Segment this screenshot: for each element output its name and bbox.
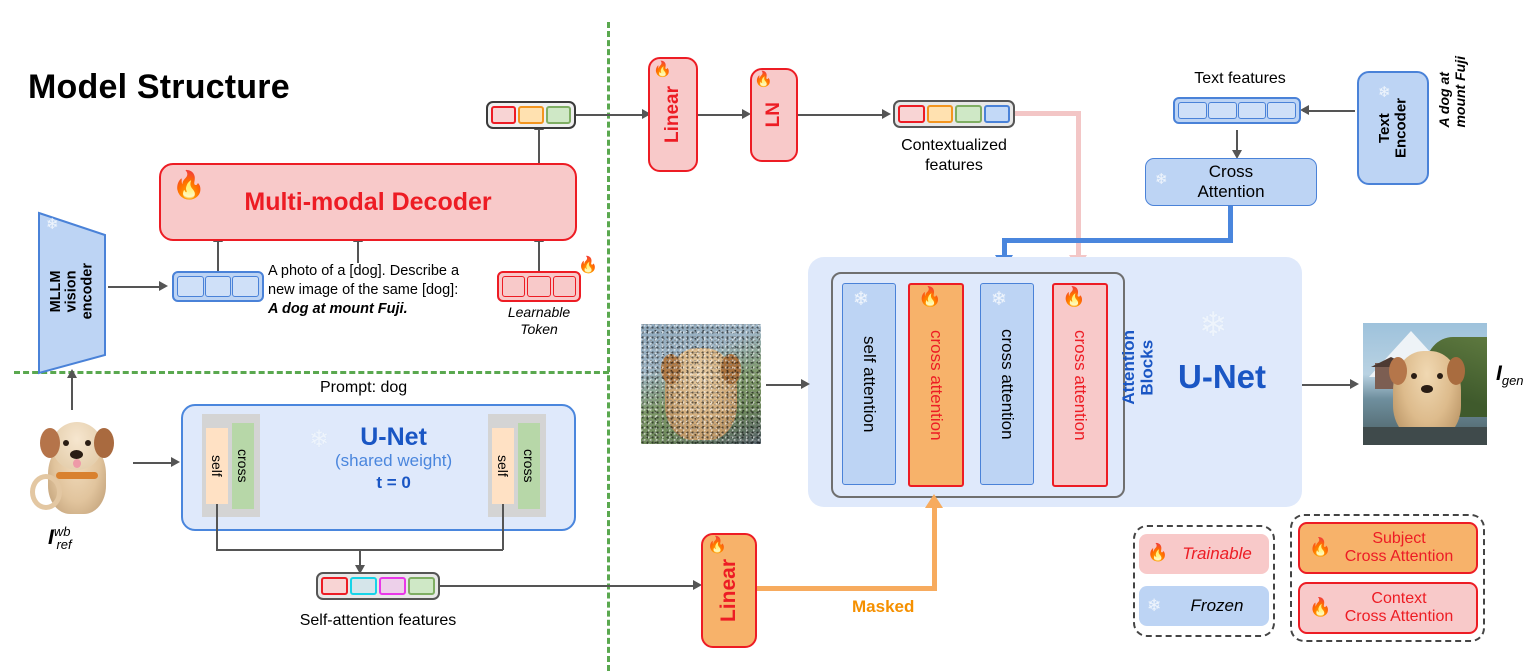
unet-to-output-arrow xyxy=(1350,379,1359,389)
shared-unet-left-self[interactable]: self xyxy=(206,428,228,504)
shared-unet-left-cross[interactable]: cross xyxy=(232,423,254,509)
legend-subject-line2: Cross Attention xyxy=(1345,548,1454,565)
contextualized-cell xyxy=(984,105,1011,123)
encoder-to-tokens-arrow xyxy=(159,281,168,291)
attention-blocks-label: Attention Blocks xyxy=(1120,330,1160,470)
self-attention-cell xyxy=(408,577,435,595)
snowflake-icon: ❄ xyxy=(309,428,329,452)
learnable-token-label-line2: Token xyxy=(487,321,591,338)
masked-route-vertical xyxy=(932,507,937,591)
shared-unet-right-self[interactable]: self xyxy=(492,428,514,504)
left-self-tap-line xyxy=(216,504,218,550)
contextualized-caption-line1: Contextualized xyxy=(884,136,1024,156)
snowflake-icon: ❄ xyxy=(853,290,869,309)
vertical-divider xyxy=(607,22,610,671)
flame-icon: 🔥 xyxy=(578,258,598,274)
learnable-token-cell xyxy=(527,276,550,297)
decoder-to-output-line xyxy=(538,129,540,163)
snowflake-icon: ❄ xyxy=(1199,308,1228,342)
prompt-text-block: A photo of a [dog]. Describe a new image… xyxy=(268,262,483,319)
decoder-output-token-strip xyxy=(486,101,576,129)
contextualized-features-caption: Contextualized features xyxy=(884,136,1024,175)
ref-dog-eye-left xyxy=(63,440,69,446)
masked-route-arrow xyxy=(925,494,943,508)
self-attention-features-strip xyxy=(316,572,440,600)
ref-dog-eye-right xyxy=(85,440,91,446)
ln-label: LN xyxy=(763,102,785,127)
decoder-label: Multi-modal Decoder xyxy=(244,188,491,217)
encoder-to-textfeatures-line xyxy=(1303,110,1355,112)
generated-dog-ear-left xyxy=(1389,357,1407,385)
mllm-encoder-label: MLLM vision encoder xyxy=(36,205,108,377)
attention-block-label: cross attention xyxy=(926,330,946,441)
flame-icon: 🔥 xyxy=(918,288,942,307)
mllm-line3: encoder xyxy=(79,263,95,319)
textattn-route-horizontal xyxy=(1002,238,1233,243)
generated-dog-eye-left xyxy=(1411,373,1417,379)
noisy-to-unet-arrow xyxy=(801,379,810,389)
shared-unet-sub2: t = 0 xyxy=(335,472,452,493)
legend-trainable-label: Trainable xyxy=(1156,544,1252,564)
snowflake-icon: ❄ xyxy=(991,290,1007,309)
context-route-vertical xyxy=(1076,111,1081,259)
contextualized-cell xyxy=(955,105,982,123)
decoder-token-cell xyxy=(546,106,571,124)
legend-context-chip: 🔥 Context Cross Attention xyxy=(1298,582,1478,634)
image-token-cell xyxy=(232,276,259,297)
decoder-token-cell xyxy=(491,106,516,124)
self-attention-cell xyxy=(350,577,377,595)
text-input-caption-inner: A dog at mount Fuji xyxy=(1436,56,1468,128)
image-token-strip xyxy=(172,271,264,302)
ln-to-context-arrow xyxy=(882,109,891,119)
mllm-vision-encoder: ❄ MLLM vision encoder xyxy=(36,205,108,377)
ref-dog-collar xyxy=(56,472,98,479)
generated-dog-ear-right xyxy=(1447,357,1465,385)
masked-route-horizontal xyxy=(757,586,937,591)
shared-unet-label-group: U-Net (shared weight) t = 0 xyxy=(335,424,452,493)
tokens-to-linear-line xyxy=(576,114,644,116)
legend-context-label: Context Cross Attention xyxy=(1323,590,1454,627)
contextualized-features-strip xyxy=(893,100,1015,128)
text-encoder-line2: Encoder xyxy=(1392,98,1409,158)
text-encoder-label: Text Encoder xyxy=(1377,98,1410,158)
ref-to-unet-arrow xyxy=(171,457,180,467)
legend-context-line2: Cross Attention xyxy=(1345,608,1454,625)
flame-icon: 🔥 xyxy=(754,72,773,87)
multimodal-decoder[interactable]: Multi-modal Decoder xyxy=(159,163,577,241)
legend-frozen-chip: ❄ Frozen xyxy=(1139,586,1269,626)
text-encoder-line1: Text xyxy=(1376,113,1393,143)
prompt-line-3: A dog at mount Fuji. xyxy=(268,300,483,319)
rock-shape xyxy=(1363,427,1487,445)
encoder-to-textfeatures-arrow xyxy=(1300,105,1309,115)
generated-image-label-sub: gen xyxy=(1502,373,1524,388)
snowflake-icon: ❄ xyxy=(1378,85,1391,100)
flame-icon: 🔥 xyxy=(653,62,672,77)
ref-dog-nose xyxy=(70,450,83,459)
mllm-line1: MLLM xyxy=(48,270,64,312)
encoder-to-tokens-line xyxy=(108,286,160,288)
text-feature-cell xyxy=(1238,102,1267,119)
attention-blocks-line1: Attention xyxy=(1119,330,1138,405)
unet-to-output-line xyxy=(1302,384,1352,386)
linear-label: Linear xyxy=(662,86,684,143)
shared-unet-self-label: self xyxy=(209,455,225,477)
learnable-token-cell xyxy=(553,276,576,297)
learnable-to-decoder-line xyxy=(538,241,540,271)
text-feature-cell xyxy=(1208,102,1237,119)
attention-block-self-attention[interactable]: self attention xyxy=(842,283,896,485)
prompt-line-1: A photo of a [dog]. Describe a xyxy=(268,262,483,281)
text-features-strip xyxy=(1173,97,1301,124)
ref-dog-tongue xyxy=(73,459,81,468)
cross-attention-line1: Cross xyxy=(1209,162,1253,181)
ref-to-encoder-arrow xyxy=(67,369,77,378)
linear-to-ln-line xyxy=(698,114,744,116)
prompt-line-2: new image of the same [dog]: xyxy=(268,281,483,300)
text-cross-attention-block[interactable]: Cross Attention xyxy=(1145,158,1317,206)
noisy-input-image xyxy=(641,324,761,444)
attention-block-label: cross attention xyxy=(1070,330,1090,441)
legend-subject-chip: 🔥 Subject Cross Attention xyxy=(1298,522,1478,574)
contextualized-cell xyxy=(898,105,925,123)
flame-icon: 🔥 xyxy=(1147,544,1168,561)
context-route-horizontal xyxy=(1015,111,1081,116)
shared-unet-right-cross[interactable]: cross xyxy=(518,423,540,509)
image-token-cell xyxy=(205,276,232,297)
cross-attention-label: Cross Attention xyxy=(1197,162,1264,201)
page-title: Model Structure xyxy=(28,68,290,107)
right-self-tap-line xyxy=(502,504,504,550)
textattn-route-vertical-1 xyxy=(1228,206,1233,242)
ref-dog-ear-right xyxy=(94,428,114,458)
generated-image xyxy=(1363,323,1487,445)
image-tokens-to-decoder-line xyxy=(217,241,219,271)
shared-unet-cross-label: cross xyxy=(235,449,251,482)
learnable-token-label: Learnable Token xyxy=(487,304,591,338)
flame-icon: 🔥 xyxy=(1062,288,1086,307)
text-input-caption: A dog at mount Fuji xyxy=(1436,56,1460,166)
noisy-to-unet-line xyxy=(766,384,804,386)
text-feature-cell xyxy=(1267,102,1296,119)
snowflake-icon: ❄ xyxy=(1155,172,1168,187)
legend-subject-line1: Subject xyxy=(1372,530,1425,547)
attention-blocks-label-inner: Attention Blocks xyxy=(1120,330,1157,405)
ref-to-unet-line xyxy=(133,462,173,464)
learnable-token-label-line1: Learnable xyxy=(487,304,591,321)
contextualized-caption-line2: features xyxy=(884,156,1024,176)
reference-image xyxy=(22,410,132,520)
legend-trainable-chip: 🔥 Trainable xyxy=(1139,534,1269,574)
legend-frozen-label: Frozen xyxy=(1165,596,1244,616)
attention-block-context-cross-attention[interactable]: cross attention xyxy=(1052,283,1108,487)
self-attention-cell xyxy=(321,577,348,595)
text-input-line2: mount Fuji xyxy=(1452,56,1468,128)
generated-image-label: Igen xyxy=(1496,362,1524,388)
legend-context-line1: Context xyxy=(1371,590,1426,607)
attention-block-text-cross-attention[interactable]: cross attention xyxy=(980,283,1034,485)
text-feature-cell xyxy=(1178,102,1207,119)
snowflake-icon: ❄ xyxy=(1147,597,1161,614)
attention-block-label: self attention xyxy=(859,336,879,432)
attention-blocks-line2: Blocks xyxy=(1138,339,1157,395)
shared-unet-cross-label: cross xyxy=(521,449,537,482)
contextualized-cell xyxy=(927,105,954,123)
flame-icon: 🔥 xyxy=(172,172,206,199)
image-token-cell xyxy=(177,276,204,297)
generated-dog-eye-right xyxy=(1437,373,1443,379)
cross-attention-line2: Attention xyxy=(1197,182,1264,201)
flame-icon: 🔥 xyxy=(1309,598,1331,616)
generated-dog-nose xyxy=(1421,385,1433,393)
prompt-to-decoder-line xyxy=(357,241,359,263)
ln-to-context-line xyxy=(798,114,884,116)
shared-unet-label: U-Net xyxy=(335,424,452,450)
flame-icon: 🔥 xyxy=(707,538,727,554)
self-attention-features-caption: Self-attention features xyxy=(278,612,478,630)
reference-image-label-sub: ref xyxy=(56,537,71,552)
text-input-line1: A dog at xyxy=(1436,72,1452,127)
shared-unet-self-label: self xyxy=(495,455,511,477)
subject-linear-label: Linear xyxy=(717,559,741,622)
textfeatures-to-crossattn-line xyxy=(1236,130,1238,152)
learnable-token-cell xyxy=(502,276,525,297)
noise-overlay xyxy=(641,324,761,444)
unet-main-label: U-Net xyxy=(1178,358,1266,396)
self-attention-cell xyxy=(379,577,406,595)
ref-dog-tail xyxy=(30,474,62,510)
legend-subject-label: Subject Cross Attention xyxy=(1323,530,1454,567)
shared-unet-sub1: (shared weight) xyxy=(335,450,452,471)
decoder-token-cell xyxy=(518,106,543,124)
attention-block-subject-cross-attention[interactable]: cross attention xyxy=(908,283,964,487)
diagram-canvas: Model Structure ❄ MLLM vision encoder A … xyxy=(0,0,1530,671)
attention-block-label: cross attention xyxy=(997,329,1017,440)
masked-label: Masked xyxy=(852,597,914,617)
selffeatures-to-linear-line xyxy=(440,585,695,587)
ref-dog-ear-left xyxy=(40,428,60,458)
mllm-line2: vision xyxy=(63,270,79,312)
text-encoder[interactable]: Text Encoder xyxy=(1357,71,1429,185)
learnable-token-strip xyxy=(497,271,581,302)
prompt-dog-label: Prompt: dog xyxy=(320,379,407,397)
flame-icon: 🔥 xyxy=(1309,538,1331,556)
text-features-label: Text features xyxy=(1175,70,1305,88)
reference-image-label: Iwbref xyxy=(48,524,72,552)
